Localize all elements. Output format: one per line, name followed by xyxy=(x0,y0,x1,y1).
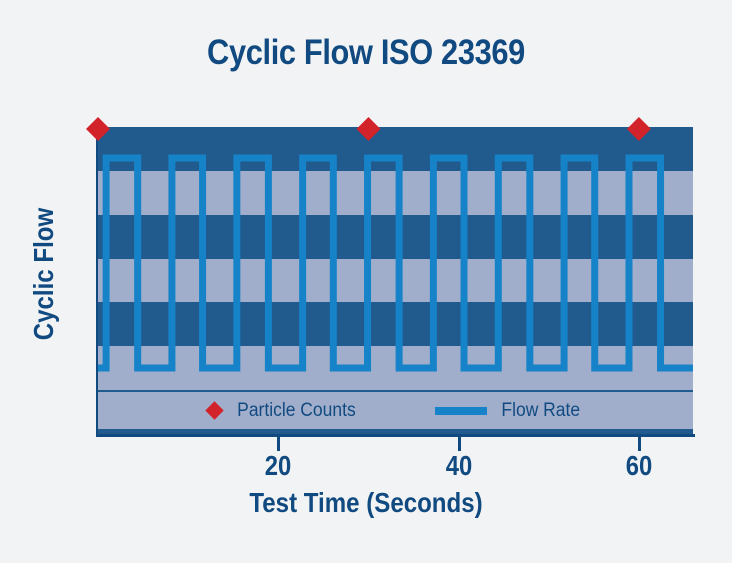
background-band xyxy=(98,215,693,259)
x-axis-tick-label: 60 xyxy=(613,450,664,482)
x-axis-line xyxy=(96,434,695,437)
page-title: Cyclic Flow ISO 23369 xyxy=(44,33,688,73)
x-axis-tick xyxy=(458,437,461,451)
background-band xyxy=(98,259,693,303)
legend-item-particle-counts[interactable]: Particle Counts xyxy=(208,400,361,422)
x-axis-tick xyxy=(277,437,280,451)
legend-label-flow-rate: Flow Rate xyxy=(501,400,580,422)
line-swatch-icon xyxy=(435,407,487,415)
background-band xyxy=(98,346,693,390)
legend-item-flow-rate[interactable]: Flow Rate xyxy=(435,400,584,422)
plot-area: Particle Counts Flow Rate xyxy=(98,127,693,434)
chart-root: Cyclic Flow ISO 23369 Cyclic Flow Partic… xyxy=(0,0,732,563)
chart-legend: Particle Counts Flow Rate xyxy=(98,392,693,429)
y-axis-title: Cyclic Flow xyxy=(28,197,60,352)
x-axis-tick xyxy=(638,437,641,451)
diamond-marker-icon xyxy=(205,401,223,419)
legend-label-particle-counts: Particle Counts xyxy=(237,400,356,422)
background-band xyxy=(98,302,693,346)
background-band xyxy=(98,171,693,215)
y-axis-line xyxy=(96,127,98,436)
x-axis-title: Test Time (Seconds) xyxy=(51,487,681,519)
x-axis-tick-label: 20 xyxy=(253,450,304,482)
background-band xyxy=(98,127,693,171)
x-axis-tick-label: 40 xyxy=(433,450,484,482)
